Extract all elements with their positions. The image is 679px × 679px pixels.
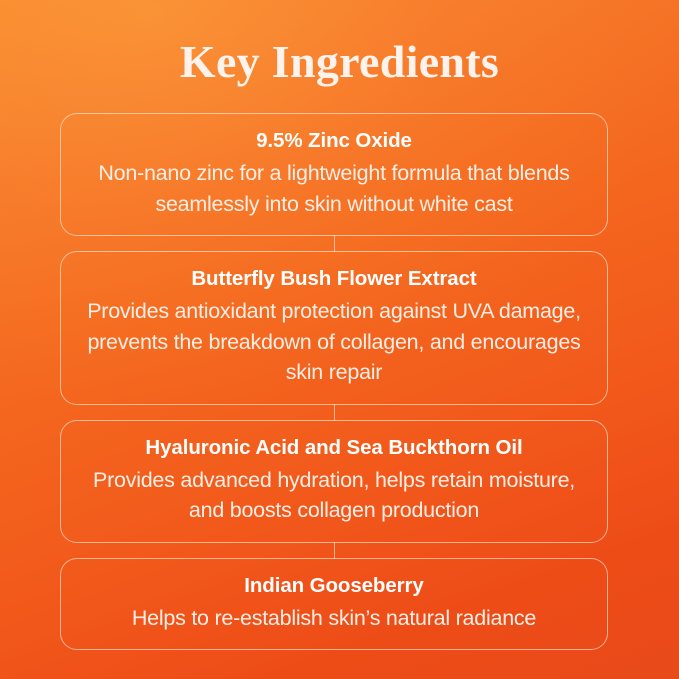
key-ingredients-poster: Key Ingredients 9.5% Zinc Oxide Non-nano… — [0, 0, 679, 679]
ingredient-description: Helps to re-establish skin’s natural rad… — [83, 603, 585, 634]
card-connector-line — [60, 543, 608, 558]
ingredient-card-list: 9.5% Zinc Oxide Non-nano zinc for a ligh… — [60, 113, 608, 650]
card-connector-line — [60, 236, 608, 251]
card-connector-line — [60, 405, 608, 420]
ingredient-description: Provides advanced hydration, helps retai… — [83, 465, 585, 526]
poster-content: Key Ingredients 9.5% Zinc Oxide Non-nano… — [0, 0, 679, 679]
ingredient-title: 9.5% Zinc Oxide — [83, 127, 585, 155]
ingredient-card-zinc-oxide: 9.5% Zinc Oxide Non-nano zinc for a ligh… — [60, 113, 608, 236]
ingredient-title: Hyaluronic Acid and Sea Buckthorn Oil — [83, 434, 585, 462]
ingredient-title: Butterfly Bush Flower Extract — [83, 265, 585, 293]
ingredient-card-butterfly-bush-flower-extract: Butterfly Bush Flower Extract Provides a… — [60, 251, 608, 405]
ingredient-card-hyaluronic-acid-sea-buckthorn-oil: Hyaluronic Acid and Sea Buckthorn Oil Pr… — [60, 420, 608, 543]
ingredient-description: Non-nano zinc for a lightweight formula … — [83, 158, 585, 219]
ingredient-card-indian-gooseberry: Indian Gooseberry Helps to re-establish … — [60, 558, 608, 651]
page-title: Key Ingredients — [0, 36, 679, 88]
ingredient-description: Provides antioxidant protection against … — [83, 296, 585, 388]
ingredient-title: Indian Gooseberry — [83, 572, 585, 600]
